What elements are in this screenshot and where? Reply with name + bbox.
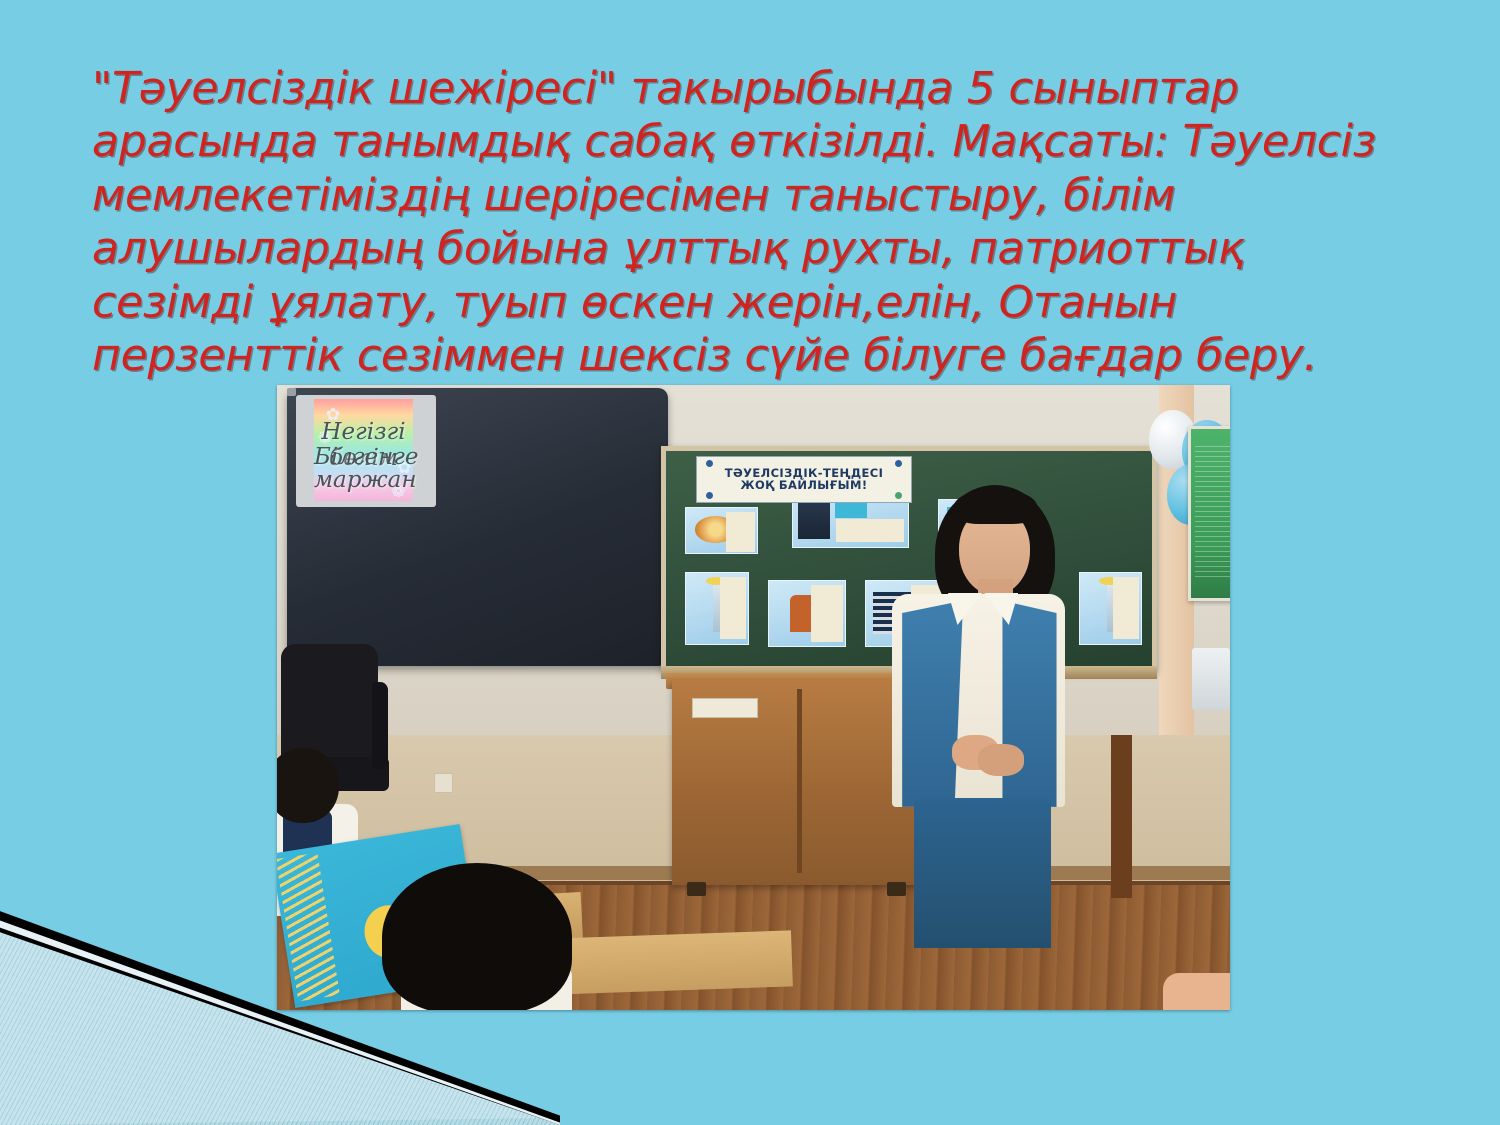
pin-icon	[895, 460, 902, 467]
poster-text-block	[811, 585, 843, 642]
poster-monument	[768, 580, 846, 647]
office-chair-arm	[372, 682, 387, 770]
poster-baiterek-2	[1079, 572, 1142, 645]
poster-baiterek-1	[685, 572, 748, 645]
banner-line-2: ЖОҚ БАЙЛЫҒЫМ!	[741, 479, 868, 491]
wall-outlet	[434, 773, 453, 793]
door-jamb	[1111, 735, 1132, 898]
teacher-fringe	[954, 489, 1038, 524]
poster-emblem	[685, 507, 758, 554]
interactive-whiteboard: ✿ ❁ ✿ ❁ Негізгі бөлім Білгенге маржан	[287, 388, 668, 666]
cabinet-label-plate	[692, 698, 759, 718]
teacher-hand-right	[978, 744, 1024, 777]
teacher-vest-left	[902, 601, 963, 807]
teacher-skirt	[914, 798, 1051, 948]
poster-text-block	[720, 577, 746, 640]
pin-icon	[895, 492, 902, 499]
green-wall-poster	[1188, 426, 1230, 601]
cabinet-foot	[687, 882, 706, 896]
whiteboard-mount	[287, 388, 297, 396]
presentation-slide: "Тәуелсіздік шежіресі" такырыбында 5 сын…	[0, 0, 1500, 1125]
blackboard-banner: ТӘУЕЛСІЗДІК-ТЕҢДЕСІ ЖОҚ БАЙЛЫҒЫМ!	[696, 456, 911, 504]
slide-body-text: "Тәуелсіздік шежіресі" такырыбында 5 сын…	[92, 62, 1402, 383]
classroom-photo: ✿ ❁ ✿ ❁ Негізгі бөлім Білгенге маржан	[277, 385, 1230, 1010]
cabinet-door-split	[797, 689, 802, 873]
student-hair	[277, 748, 339, 823]
pin-icon	[706, 492, 713, 499]
student-hand-foreground	[1163, 973, 1230, 1011]
poster-text-block	[836, 519, 905, 543]
wall-sink	[1192, 648, 1230, 711]
pin-icon	[706, 460, 713, 467]
poster-text-block	[1113, 577, 1139, 640]
projected-line-2: Білгенге	[314, 444, 413, 470]
projected-slide: ✿ ❁ ✿ ❁ Негізгі бөлім Білгенге маржан	[314, 399, 413, 501]
projected-line-3: маржан	[314, 467, 413, 493]
cabinet-foot	[887, 882, 906, 896]
student-head	[382, 863, 573, 1010]
poster-text-block	[726, 512, 756, 552]
